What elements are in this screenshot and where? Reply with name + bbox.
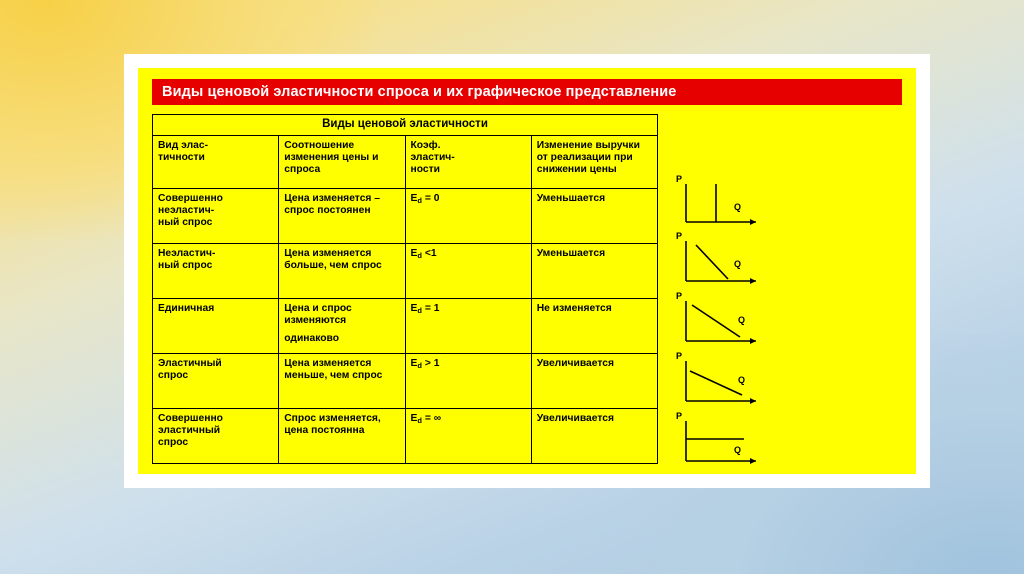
cell-relation-line1: Цена изменяется – bbox=[284, 193, 399, 205]
cell-type-line1: Совершенно bbox=[158, 413, 273, 425]
cell-coefficient-value: = 0 bbox=[425, 193, 440, 204]
cell-coefficient-value: > 1 bbox=[425, 358, 440, 369]
cell-type-line3: ный спрос bbox=[158, 217, 273, 229]
cell-type-line2: эластичный bbox=[158, 425, 273, 437]
diagram-unit-demand: P Q bbox=[672, 293, 782, 351]
cell-revenue: Не изменяется bbox=[531, 298, 657, 353]
table-caption: Виды ценовой эластичности bbox=[153, 115, 658, 136]
column-header-revenue-line1: Изменение выручки bbox=[537, 140, 652, 152]
column-header-revenue-line2: от реализации при bbox=[537, 152, 652, 164]
cell-type: Эластичный спрос bbox=[153, 353, 279, 408]
cell-relation-line1: Спрос изменяется, bbox=[284, 413, 399, 425]
diagram-flat-demand: P Q bbox=[672, 353, 782, 411]
axis-label-quantity: Q bbox=[734, 202, 741, 212]
cell-relation-line2: меньше, чем спрос bbox=[284, 370, 399, 382]
cell-type: Совершенно неэластич- ный спрос bbox=[153, 188, 279, 243]
column-header-coefficient: Коэф. эластич- ности bbox=[405, 135, 531, 188]
cell-relation-line1: Цена изменяется bbox=[284, 248, 399, 260]
slide-canvas: Виды ценовой эластичности спроса и их гр… bbox=[0, 0, 1024, 574]
cell-coefficient-value: = 1 bbox=[425, 303, 440, 314]
cell-coefficient: Ed = 1 bbox=[405, 298, 531, 353]
column-header-coefficient-line2: эластич- bbox=[411, 152, 526, 164]
column-header-coefficient-line1: Коэф. bbox=[411, 140, 526, 152]
table-row: Совершенно неэластич- ный спрос Цена изм… bbox=[153, 188, 658, 243]
cell-relation-line2: изменяются bbox=[284, 315, 399, 327]
cell-revenue: Увеличивается bbox=[531, 408, 657, 463]
cell-relation-line1: Цена изменяется bbox=[284, 358, 399, 370]
cell-coefficient: Ed = ∞ bbox=[405, 408, 531, 463]
cell-type-line3: спрос bbox=[158, 437, 273, 449]
cell-relation: Цена изменяется больше, чем спрос bbox=[279, 243, 405, 298]
axis-label-quantity: Q bbox=[738, 315, 745, 325]
cell-coefficient-subscript: d bbox=[417, 196, 422, 205]
cell-relation-line2: больше, чем спрос bbox=[284, 260, 399, 272]
column-header-coefficient-line3: ности bbox=[411, 164, 526, 176]
cell-coefficient: Ed = 0 bbox=[405, 188, 531, 243]
cell-revenue: Уменьшается bbox=[531, 243, 657, 298]
cell-coefficient: Ed > 1 bbox=[405, 353, 531, 408]
column-header-relation: Соотношение изменения цены и спроса bbox=[279, 135, 405, 188]
axis-label-quantity: Q bbox=[738, 375, 745, 385]
cell-relation-line2: цена постоянна bbox=[284, 425, 399, 437]
column-header-revenue-line3: снижении цены bbox=[537, 164, 652, 176]
cell-relation: Цена изменяется – спрос постоянен bbox=[279, 188, 405, 243]
cell-relation: Спрос изменяется, цена постоянна bbox=[279, 408, 405, 463]
diagram-vertical-demand: P Q bbox=[672, 176, 782, 232]
diagram-horizontal-demand: P Q bbox=[672, 413, 782, 471]
column-header-relation-line2: изменения цены и bbox=[284, 152, 399, 164]
page-title: Виды ценовой эластичности спроса и их гр… bbox=[152, 84, 676, 100]
column-header-relation-line3: спроса bbox=[284, 164, 399, 176]
column-header-type-line1: Вид элас- bbox=[158, 140, 273, 152]
cell-type: Совершенно эластичный спрос bbox=[153, 408, 279, 463]
cell-coefficient: Ed <1 bbox=[405, 243, 531, 298]
cell-type: Неэластич- ный спрос bbox=[153, 243, 279, 298]
cell-type-line1: Неэластич- bbox=[158, 248, 273, 260]
cell-type-line2: ный спрос bbox=[158, 260, 273, 272]
elasticity-table: Виды ценовой эластичности Вид элас- тичн… bbox=[152, 114, 658, 464]
cell-coefficient-subscript: d bbox=[417, 251, 422, 260]
axis-label-quantity: Q bbox=[734, 445, 741, 455]
cell-type-line1: Совершенно bbox=[158, 193, 273, 205]
cell-coefficient-value: <1 bbox=[425, 248, 437, 259]
table-caption-row: Виды ценовой эластичности bbox=[153, 115, 658, 136]
cell-coefficient-subscript: d bbox=[417, 361, 422, 370]
cell-type-line1: Единичная bbox=[158, 303, 273, 315]
cell-relation-line2: спрос постоянен bbox=[284, 205, 399, 217]
cell-revenue: Увеличивается bbox=[531, 353, 657, 408]
diagram-steep-demand: P Q bbox=[672, 233, 782, 291]
table-row: Эластичный спрос Цена изменяется меньше,… bbox=[153, 353, 658, 408]
column-header-relation-line1: Соотношение bbox=[284, 140, 399, 152]
axis-label-quantity: Q bbox=[734, 259, 741, 269]
table-row: Неэластич- ный спрос Цена изменяется бол… bbox=[153, 243, 658, 298]
cell-revenue: Уменьшается bbox=[531, 188, 657, 243]
table-header-row: Вид элас- тичности Соотношение изменения… bbox=[153, 135, 658, 188]
cell-coefficient-subscript: d bbox=[417, 416, 422, 425]
cell-relation: Цена и спрос изменяются одинаково bbox=[279, 298, 405, 353]
cell-type-line1: Эластичный bbox=[158, 358, 273, 370]
cell-type-line2: спрос bbox=[158, 370, 273, 382]
demand-curve-diagrams: P Q P Q P bbox=[672, 176, 792, 471]
cell-coefficient-value: = ∞ bbox=[425, 413, 441, 424]
table-row: Совершенно эластичный спрос Спрос изменя… bbox=[153, 408, 658, 463]
column-header-type: Вид элас- тичности bbox=[153, 135, 279, 188]
cell-type-line2: неэластич- bbox=[158, 205, 273, 217]
column-header-type-line2: тичности bbox=[158, 152, 273, 164]
cell-type: Единичная bbox=[153, 298, 279, 353]
cell-coefficient-subscript: d bbox=[417, 306, 422, 315]
cell-relation-line1: Цена и спрос bbox=[284, 303, 399, 315]
cell-relation-line3: одинаково bbox=[284, 333, 399, 345]
column-header-revenue: Изменение выручки от реализации при сниж… bbox=[531, 135, 657, 188]
cell-relation: Цена изменяется меньше, чем спрос bbox=[279, 353, 405, 408]
table-row: Единичная Цена и спрос изменяются одинак… bbox=[153, 298, 658, 353]
slide-title-bar: Виды ценовой эластичности спроса и их гр… bbox=[152, 79, 902, 105]
